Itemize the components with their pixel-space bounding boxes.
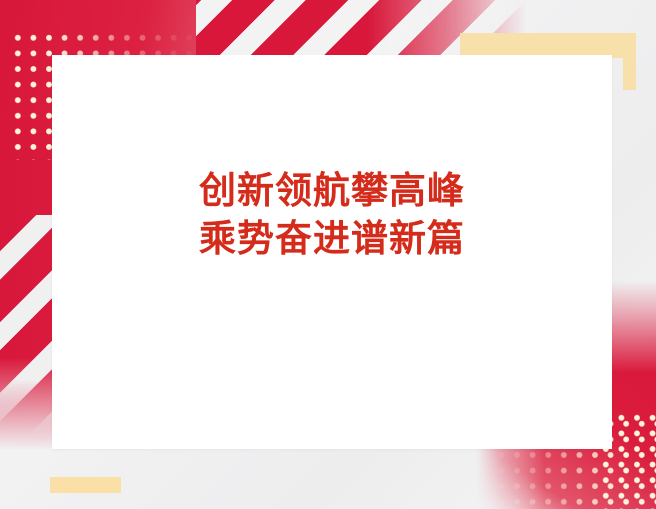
slide-headline: 创新领航攀高峰 乘势奋进谱新篇 <box>52 167 612 263</box>
headline-line-1: 创新领航攀高峰 <box>52 167 612 215</box>
headline-line-2: 乘势奋进谱新篇 <box>52 215 612 263</box>
gold-tab-icon <box>50 477 121 493</box>
gold-corner-bracket-vertical-icon <box>623 33 636 90</box>
presentation-slide: 创新领航攀高峰 乘势奋进谱新篇 <box>0 0 656 509</box>
content-card: 创新领航攀高峰 乘势奋进谱新篇 <box>52 55 612 449</box>
